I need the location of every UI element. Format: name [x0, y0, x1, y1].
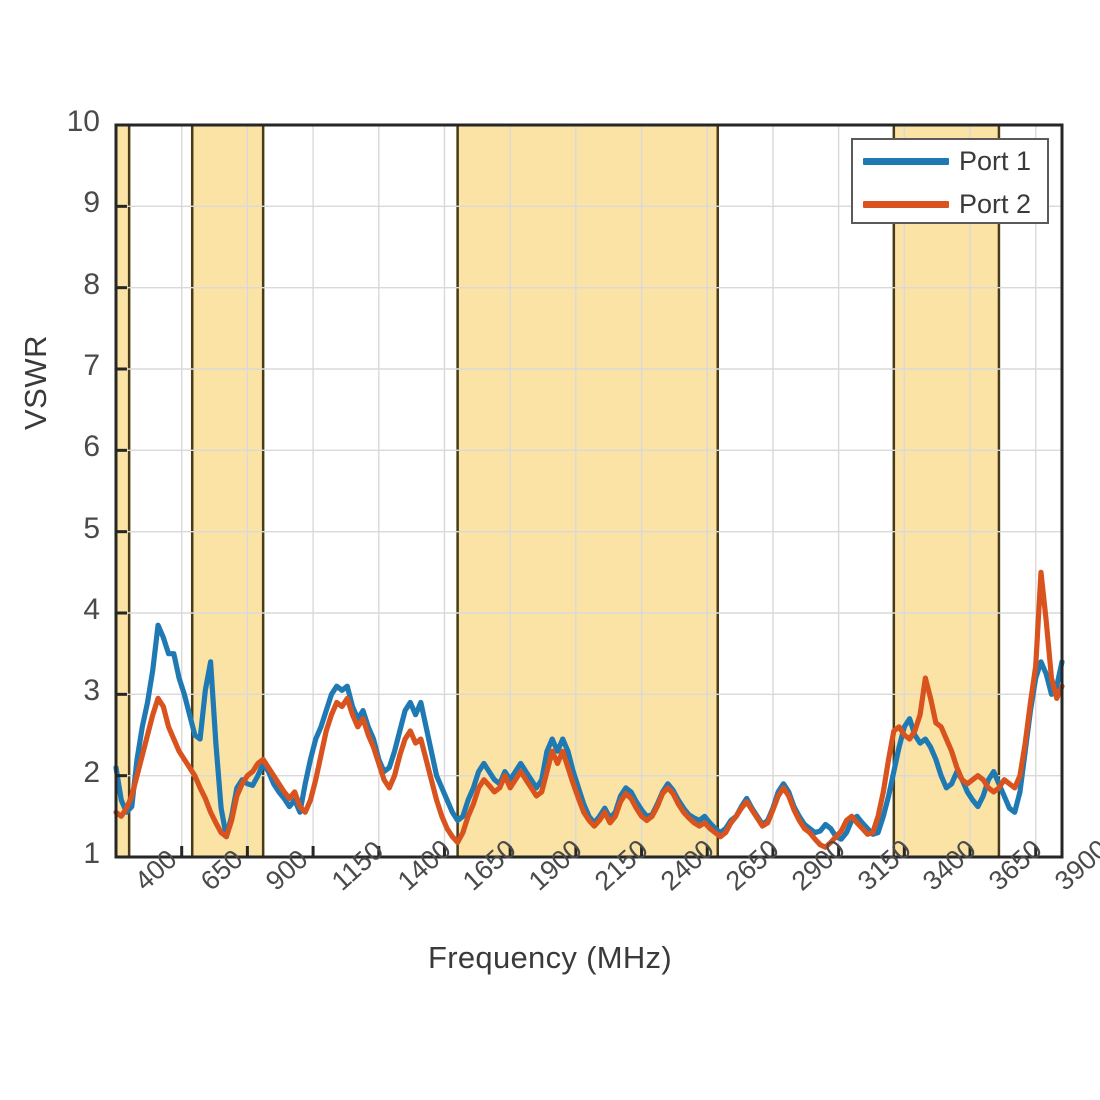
legend-swatch-port-2 [863, 201, 949, 208]
legend-label-port-2: Port 2 [959, 189, 1031, 220]
legend-swatch-port-1 [863, 158, 949, 165]
x-tick-label: 3150 [852, 874, 873, 897]
x-tick-label: 650 [195, 874, 216, 897]
x-tick-label: 3400 [917, 874, 938, 897]
x-tick-label: 2400 [655, 874, 676, 897]
x-tick-label: 400 [129, 874, 150, 897]
x-tick-label: 2150 [589, 874, 610, 897]
legend-label-port-1: Port 1 [959, 146, 1031, 177]
x-tick-label: 1150 [326, 874, 347, 897]
x-tick-label: 2650 [720, 874, 741, 897]
x-tick-label: 1900 [523, 874, 544, 897]
legend: Port 1 Port 2 [851, 138, 1049, 224]
x-tick-label: 2900 [786, 874, 807, 897]
legend-item-port-2: Port 2 [853, 183, 1051, 226]
x-tick-label: 1400 [392, 874, 413, 897]
legend-item-port-1: Port 1 [853, 140, 1051, 183]
x-tick-label: 900 [260, 874, 281, 897]
x-tick-label: 1650 [457, 874, 478, 897]
x-tick-label: 3650 [983, 874, 1004, 897]
vswr-chart-figure: VSWR Frequency (MHz) 12345678910 4006509… [0, 0, 1100, 1100]
x-tick-label: 3900 [1049, 874, 1070, 897]
